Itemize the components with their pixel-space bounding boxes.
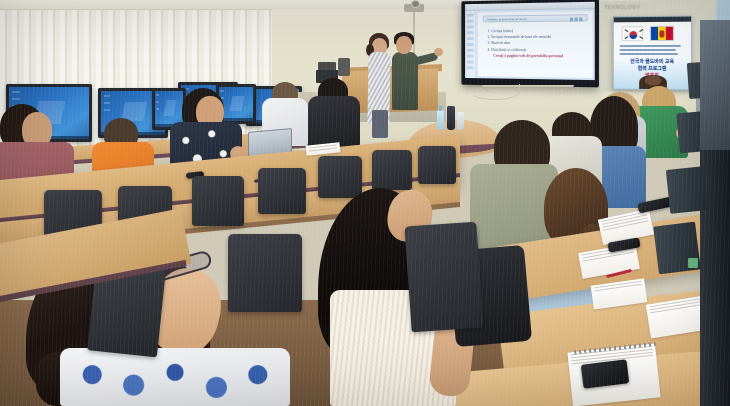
- chair[interactable]: [372, 150, 412, 190]
- slide-bullet-list: 1. Cerința (tasks) 2. Învățați elementel…: [488, 28, 588, 60]
- presenter-man-hand: [434, 48, 443, 56]
- chair[interactable]: [318, 156, 362, 198]
- right-monitor-back: [666, 166, 708, 214]
- dark-water-bottle: [447, 106, 455, 130]
- equipment-tower: [338, 58, 350, 76]
- participant-black-tshirt: [308, 96, 360, 148]
- event-poster: 한국과 몰도바의 교육 협력 프로그램 발표회: [613, 16, 692, 91]
- chair[interactable]: [192, 176, 244, 226]
- chair[interactable]: [228, 234, 302, 312]
- moldova-flag-icon: [650, 26, 674, 41]
- display-cable: [470, 84, 520, 100]
- window-controls[interactable]: [570, 17, 583, 21]
- poster-top-bar: [614, 17, 691, 23]
- display-screen: Ordinea și proiectul de lucru 1. Cerința…: [465, 2, 595, 80]
- chair[interactable]: [258, 168, 306, 214]
- sticker-label: [688, 258, 698, 268]
- app-ribbon: [465, 2, 595, 11]
- clear-water-bottle: [457, 112, 464, 130]
- hand-sanitizer-bottle: [437, 110, 444, 130]
- flag-row: [622, 26, 674, 41]
- poster-latin-text: [620, 45, 685, 58]
- chair[interactable]: [418, 146, 456, 184]
- chair[interactable]: [404, 222, 483, 333]
- presenter-man-head: [396, 36, 412, 54]
- right-monitor-panel: [700, 20, 730, 150]
- presenter-woman-trousers: [372, 110, 388, 138]
- document-area: Ordinea și proiectul de lucru 1. Cerința…: [478, 11, 593, 78]
- app-sidebar: [465, 11, 476, 78]
- south-korea-flag-icon: [622, 26, 644, 41]
- camera-lens-icon: [411, 0, 420, 8]
- wall-display[interactable]: Ordinea și proiectul de lucru 1. Cerința…: [461, 0, 599, 87]
- classroom-photo: Ordinea și proiectul de lucru 1. Cerința…: [0, 0, 730, 406]
- participant-floral-blue-blouse: [60, 348, 290, 406]
- slide-highlight: Creați o pagină web de portofoliu person…: [488, 53, 588, 60]
- document-title: Ordinea și proiectul de lucru: [487, 17, 527, 21]
- document-titlebar: Ordinea și proiectul de lucru: [483, 14, 588, 22]
- board-label: ТЕХNOLOGY: [604, 5, 641, 11]
